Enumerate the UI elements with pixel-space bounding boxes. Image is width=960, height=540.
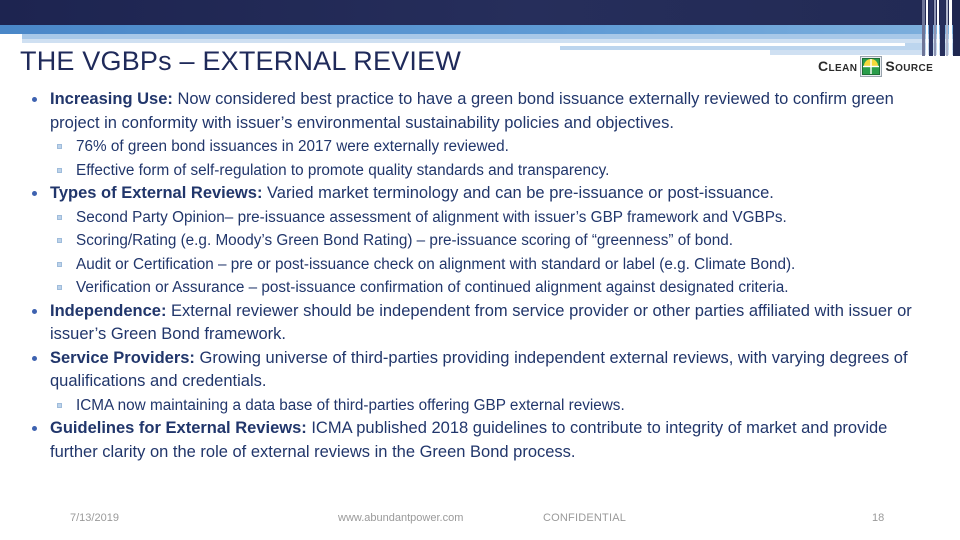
sub-bullet-item: Verification or Assurance – post-issuanc… [26,276,934,300]
bullet-dot-icon [32,356,37,361]
sub-bullet-item: ICMA now maintaining a data base of thir… [26,394,934,418]
logo-text-source: Source [885,59,933,73]
sub-bullet-square-icon [57,144,62,149]
bullet-text: Scoring/Rating (e.g. Moody’s Green Bond … [76,232,733,249]
bullet-lead-label: Increasing Use: [50,90,173,108]
header-right-accent-gap [560,43,905,46]
footer-page-number: 18 [872,508,884,528]
sub-bullet-item: 76% of green bond issuances in 2017 were… [26,135,934,159]
bullet-item: Independence: External reviewer should b… [26,300,934,347]
sub-bullet-square-icon [57,403,62,408]
bullet-dot-icon [32,426,37,431]
bullet-text: Effective form of self-regulation to pro… [76,162,609,179]
sub-bullet-square-icon [57,285,62,290]
footer-url: www.abundantpower.com [338,508,463,528]
bullet-text: Second Party Opinion– pre-issuance asses… [76,209,787,226]
bullet-list: Increasing Use: Now considered best prac… [26,88,934,464]
sub-bullet-square-icon [57,238,62,243]
footer-date: 7/13/2019 [70,508,119,528]
slide: THE VGBPs – EXTERNAL REVIEW Clean Source… [0,0,960,540]
bullet-dot-icon [32,309,37,314]
sub-bullet-item: Scoring/Rating (e.g. Moody’s Green Bond … [26,229,934,253]
bullet-dot-icon [32,191,37,196]
bullet-item: Guidelines for External Reviews: ICMA pu… [26,417,934,464]
bullet-lead-label: Guidelines for External Reviews: [50,419,307,437]
bullet-dot-icon [32,97,37,102]
header-blue-band-primary [0,25,960,34]
bullet-text: Verification or Assurance – post-issuanc… [76,279,789,296]
page-title: THE VGBPs – EXTERNAL REVIEW [20,45,461,77]
bullet-text: External reviewer should be independent … [50,302,912,344]
bullet-item: Types of External Reviews: Varied market… [26,182,934,206]
bullet-item: Service Providers: Growing universe of t… [26,347,934,394]
clean-source-window-icon [860,56,882,77]
sub-bullet-square-icon [57,215,62,220]
slide-footer: 7/13/2019 www.abundantpower.com CONFIDEN… [0,508,960,528]
footer-classification: CONFIDENTIAL [543,508,626,528]
sub-bullet-square-icon [57,168,62,173]
bullet-lead-label: Service Providers: [50,349,195,367]
bullet-text: Now considered best practice to have a g… [50,90,894,132]
bullet-lead-label: Types of External Reviews: [50,184,262,202]
bullet-text: Audit or Certification – pre or post-iss… [76,256,795,273]
header-right-accent-gap-2 [610,50,770,53]
bullet-item: Increasing Use: Now considered best prac… [26,88,934,135]
header-navy-band [0,0,960,25]
bullet-text: ICMA now maintaining a data base of thir… [76,397,625,414]
sub-bullet-square-icon [57,262,62,267]
logo-text-clean: Clean [818,59,857,73]
sub-bullet-item: Audit or Certification – pre or post-iss… [26,253,934,277]
header-band-notch [0,34,22,43]
header-vertical-stripes [920,0,960,56]
bullet-text: 76% of green bond issuances in 2017 were… [76,138,509,155]
bullet-lead-label: Independence: [50,302,166,320]
sub-bullet-item: Effective form of self-regulation to pro… [26,159,934,183]
bullet-text: Varied market terminology and can be pre… [262,184,773,202]
sub-bullet-item: Second Party Opinion– pre-issuance asses… [26,206,934,230]
brand-logo: Clean Source [818,55,933,77]
